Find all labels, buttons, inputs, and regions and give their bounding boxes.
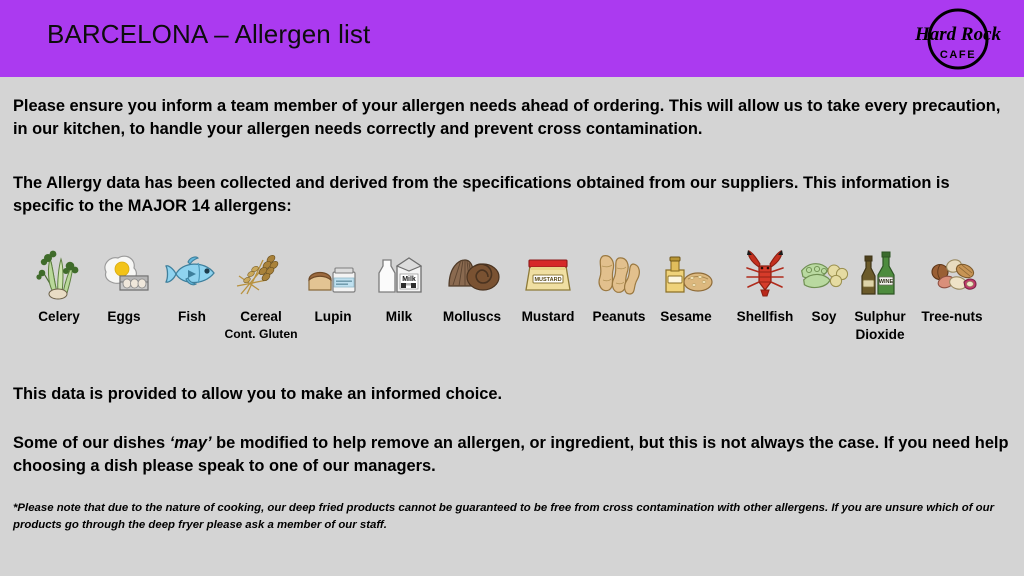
svg-text:Milk: Milk xyxy=(402,276,416,283)
header-bar: BARCELONA – Allergen list Hard Rock CAFE xyxy=(0,0,1024,77)
modified-emphasis: ‘may’ xyxy=(170,434,212,452)
paragraph-intro: Please ensure you inform a team member o… xyxy=(13,95,1011,142)
svg-text:MUSTARD: MUSTARD xyxy=(534,277,561,283)
allergen-label: Tree-nuts xyxy=(904,308,1000,326)
svg-text:CAFE: CAFE xyxy=(940,49,976,61)
modified-prefix: Some of our dishes xyxy=(13,434,170,452)
footnote-deep-fried: *Please note that due to the nature of c… xyxy=(13,500,1011,533)
page-title: BARCELONA – Allergen list xyxy=(47,19,370,50)
paragraph-modified-dishes: Some of our dishes ‘may’ be modified to … xyxy=(13,432,1011,479)
allergen-item-tree-nuts: Tree-nuts xyxy=(904,240,1000,326)
svg-text:Hard Rock: Hard Rock xyxy=(914,24,1002,45)
slide-root: BARCELONA – Allergen list Hard Rock CAFE… xyxy=(0,0,1024,576)
allergen-sublabel-cont-gluten: Cont. Gluten xyxy=(213,326,309,343)
allergen-icon-strip: Celery Eggs xyxy=(0,240,1024,358)
paragraph-allergy-data: The Allergy data has been collected and … xyxy=(13,172,1011,219)
tree-nuts-icon xyxy=(904,240,1000,302)
hard-rock-cafe-logo: Hard Rock CAFE xyxy=(910,6,1006,72)
paragraph-informed-choice: This data is provided to allow you to ma… xyxy=(13,383,1011,406)
svg-text:WINE: WINE xyxy=(879,279,894,285)
